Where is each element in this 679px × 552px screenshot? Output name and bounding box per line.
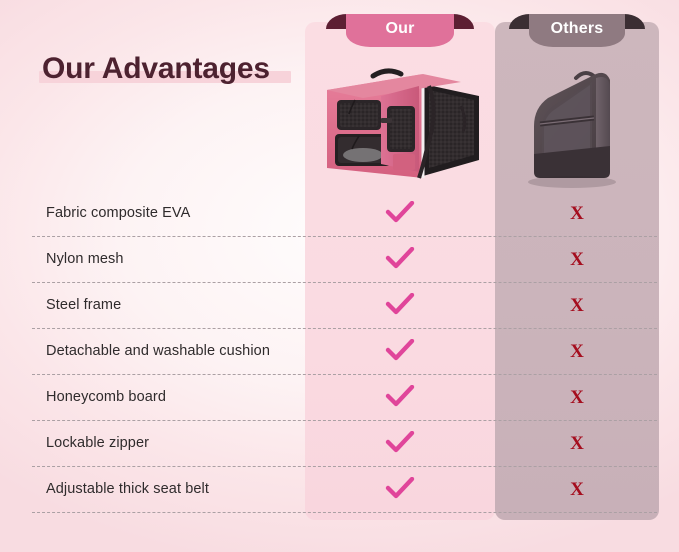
table-row: Honeycomb board X bbox=[0, 374, 679, 420]
cell-others-mark: X bbox=[495, 204, 659, 223]
x-icon: X bbox=[570, 434, 584, 453]
tab-ours[interactable]: Our bbox=[326, 14, 474, 47]
cell-others-mark: X bbox=[495, 434, 659, 453]
gray-pet-backpack-photo bbox=[500, 58, 656, 196]
ribbon-fold-right-icon bbox=[453, 14, 474, 29]
cell-ours-mark bbox=[305, 201, 495, 225]
check-icon bbox=[385, 431, 415, 455]
check-icon bbox=[385, 201, 415, 225]
comparison-infographic: Our Others Our Advantages bbox=[0, 0, 679, 552]
feature-label: Honeycomb board bbox=[0, 389, 305, 405]
cell-ours-mark bbox=[305, 431, 495, 455]
cell-others-mark: X bbox=[495, 296, 659, 315]
cell-others-mark: X bbox=[495, 250, 659, 269]
ribbon-fold-left-icon bbox=[326, 14, 347, 29]
table-row: Detachable and washable cushion X bbox=[0, 328, 679, 374]
table-row: Fabric composite EVA X bbox=[0, 190, 679, 236]
cell-others-mark: X bbox=[495, 342, 659, 361]
tab-ours-band: Our bbox=[346, 14, 454, 47]
tab-ours-label: Our bbox=[385, 20, 414, 41]
check-icon bbox=[385, 247, 415, 271]
table-row: Steel frame X bbox=[0, 282, 679, 328]
pink-pet-carrier-photo bbox=[311, 56, 495, 196]
check-icon bbox=[385, 293, 415, 317]
page-title: Our Advantages bbox=[42, 52, 270, 86]
comparison-table: Fabric composite EVA X Nylon mesh X bbox=[0, 190, 679, 512]
cell-others-mark: X bbox=[495, 480, 659, 499]
x-icon: X bbox=[570, 388, 584, 407]
cell-ours-mark bbox=[305, 247, 495, 271]
check-icon bbox=[385, 339, 415, 363]
cell-ours-mark bbox=[305, 339, 495, 363]
x-icon: X bbox=[570, 480, 584, 499]
tab-others-band: Others bbox=[529, 14, 625, 47]
table-row: Nylon mesh X bbox=[0, 236, 679, 282]
feature-label: Detachable and washable cushion bbox=[0, 343, 305, 359]
x-icon: X bbox=[570, 204, 584, 223]
table-row: Adjustable thick seat belt X bbox=[0, 466, 679, 512]
ribbon-fold-left-icon bbox=[509, 14, 530, 29]
cell-ours-mark bbox=[305, 477, 495, 501]
tab-others-label: Others bbox=[551, 20, 604, 41]
feature-label: Steel frame bbox=[0, 297, 305, 313]
check-icon bbox=[385, 477, 415, 501]
cell-others-mark: X bbox=[495, 388, 659, 407]
x-icon: X bbox=[570, 296, 584, 315]
table-row: Lockable zipper X bbox=[0, 420, 679, 466]
feature-label: Adjustable thick seat belt bbox=[0, 481, 305, 497]
check-icon bbox=[385, 385, 415, 409]
feature-label: Lockable zipper bbox=[0, 435, 305, 451]
x-icon: X bbox=[570, 250, 584, 269]
tab-others[interactable]: Others bbox=[509, 14, 645, 47]
x-icon: X bbox=[570, 342, 584, 361]
cell-ours-mark bbox=[305, 293, 495, 317]
ribbon-fold-right-icon bbox=[624, 14, 645, 29]
page-title-wrap: Our Advantages bbox=[42, 52, 270, 86]
cell-ours-mark bbox=[305, 385, 495, 409]
feature-label: Nylon mesh bbox=[0, 251, 305, 267]
feature-label: Fabric composite EVA bbox=[0, 205, 305, 221]
